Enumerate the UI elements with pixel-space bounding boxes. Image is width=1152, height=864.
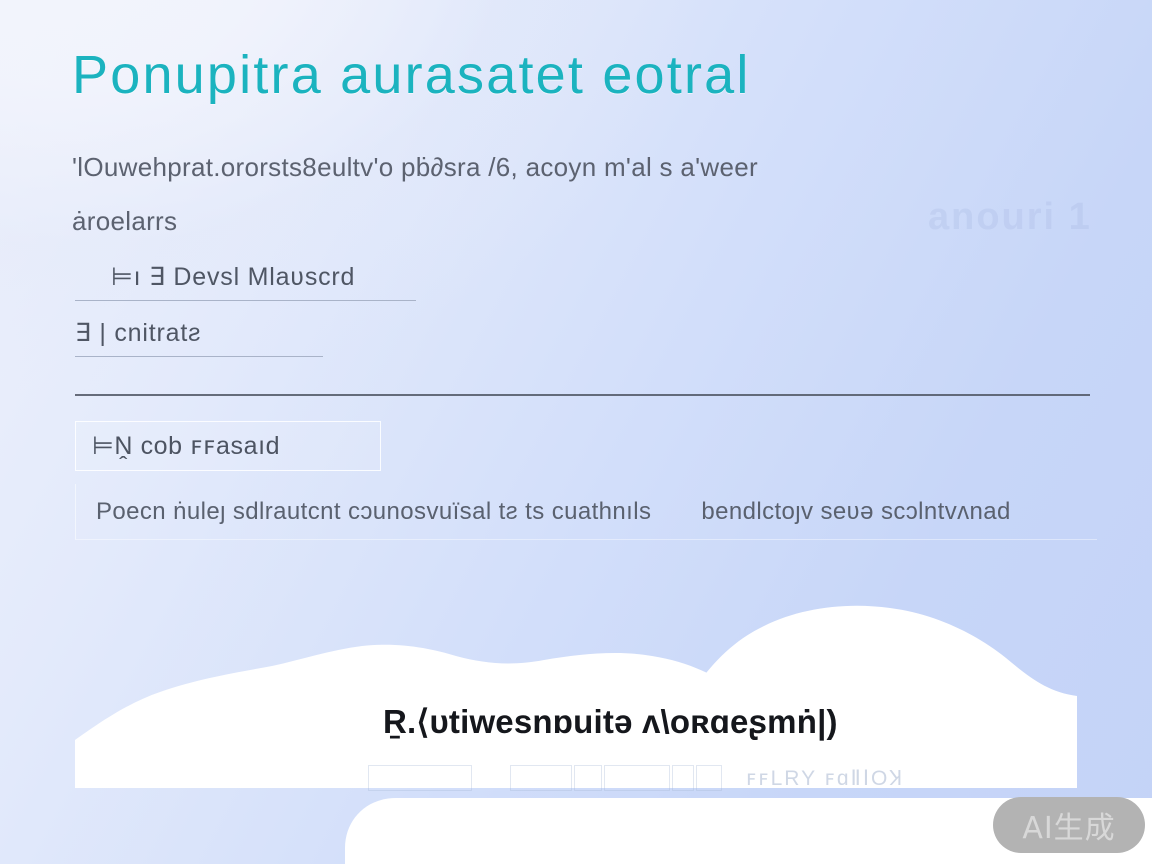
boxed-input-field[interactable]: ⊨Ṋ cob ꜰꜰasaıd [75, 421, 381, 471]
faint-boxes-row: ꜰꜰLRY ꜰɑⅡⅠOꞰ [368, 764, 904, 792]
page-title: Ponupitra aurasatet eotral [72, 44, 751, 106]
faint-box-5 [672, 765, 694, 791]
wide-row-segment-right: bendlctoȷv seʋǝ scɔlntvʌnad [651, 498, 1010, 526]
ai-generated-badge: AI生成 [993, 797, 1145, 853]
subtitle-line-1: 'lOuwehprat.ororsts8eultv'o pḃ∂sra /6, a… [72, 140, 982, 194]
faint-box-spacer [474, 765, 508, 791]
faint-box-6 [696, 765, 722, 791]
faint-box-2 [510, 765, 572, 791]
cloud-right-hill [690, 606, 1077, 787]
faint-boxes-label: ꜰꜰLRY ꜰɑⅡⅠOꞰ [746, 764, 904, 792]
bottom-card-heading: Ṟ.⟨υtiwesnɒuitǝ ʌ\oʀɑeʂmṅ|) [383, 702, 838, 741]
screenshot-canvas: anouri 1 Ponupitra aurasatet eotral 'lOu… [0, 0, 1152, 864]
wide-row-segment-left: Poecn ṅuleȷ sdlrautcnt cɔunosvuïsal tƨ t… [76, 498, 651, 526]
subtitle-line-2: ȧroelarrs [72, 194, 982, 248]
wide-text-row[interactable]: Poecn ṅuleȷ sdlrautcnt cɔunosvuïsal tƨ t… [75, 484, 1097, 540]
faint-box-3 [574, 765, 602, 791]
faint-box-4 [604, 765, 670, 791]
section-divider [75, 394, 1090, 396]
faint-box-1 [368, 765, 472, 791]
underlined-field-row-1[interactable]: ⊨ı ∃ Devsl Mlaʋscrd [75, 262, 416, 301]
page-subtitle: 'lOuwehprat.ororsts8eultv'o pḃ∂sra /6, a… [72, 140, 982, 248]
underlined-field-row-2[interactable]: ∃ | cnitratƨ [75, 318, 323, 357]
